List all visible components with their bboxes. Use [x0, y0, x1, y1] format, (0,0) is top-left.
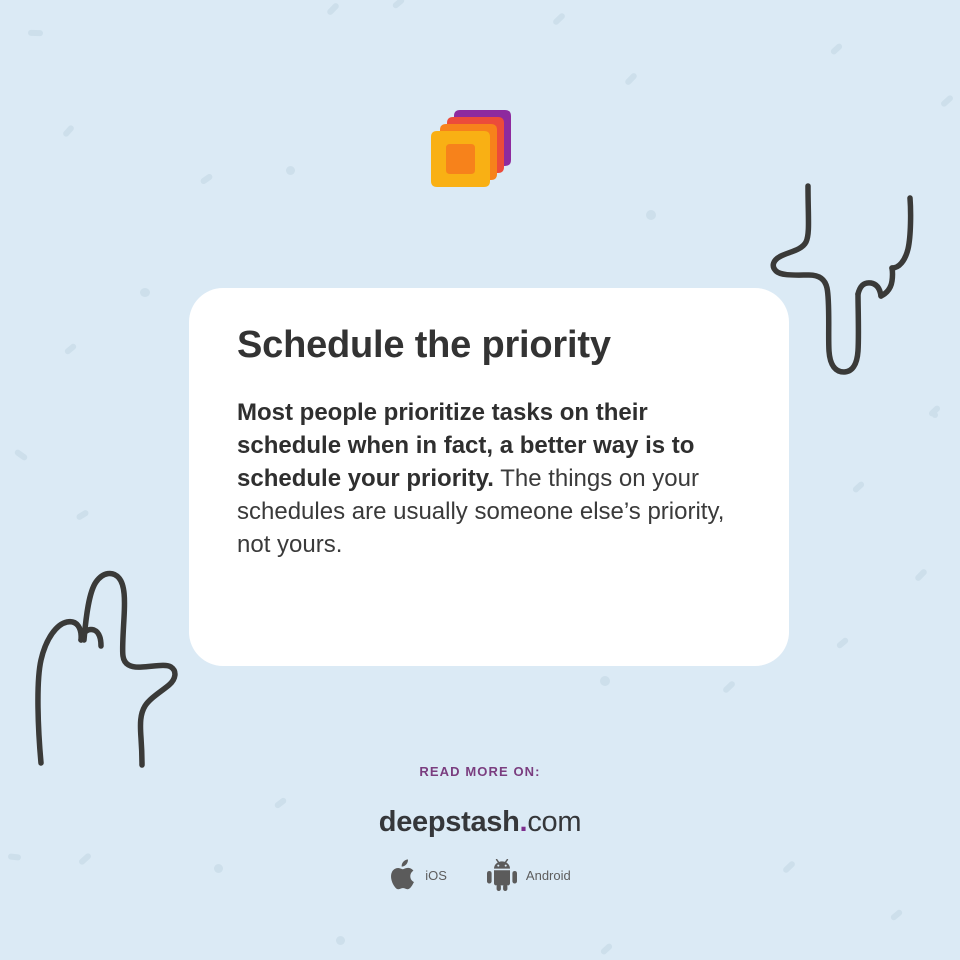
android-icon	[487, 859, 517, 891]
confetti-dash	[932, 412, 938, 418]
confetti-dash	[852, 480, 866, 493]
confetti-dash	[552, 12, 566, 26]
hand-pointing-up-illustration	[24, 560, 204, 775]
apple-icon	[389, 859, 416, 891]
confetti-dash	[890, 909, 904, 922]
confetti-dash	[392, 0, 406, 9]
brand-name: deepstash	[379, 806, 520, 838]
confetti-dash	[286, 166, 295, 175]
confetti-dash	[940, 94, 954, 108]
confetti-dash	[624, 72, 638, 86]
confetti-dash	[600, 676, 610, 686]
brand-tld: com	[527, 806, 581, 838]
android-store-link[interactable]: Android	[487, 859, 571, 891]
confetti-dash	[140, 288, 150, 297]
ios-store-link[interactable]: iOS	[389, 859, 447, 891]
confetti-dash	[600, 942, 614, 955]
confetti-dash	[75, 509, 89, 521]
deepstash-quote-card-page: Schedule the priority Most people priori…	[0, 0, 960, 960]
confetti-dash	[199, 173, 213, 185]
read-more-label: READ MORE ON:	[0, 764, 960, 779]
confetti-dash	[836, 637, 850, 650]
ios-label: iOS	[425, 868, 447, 883]
confetti-dash	[722, 680, 736, 694]
store-badges: iOS	[0, 859, 960, 891]
android-label: Android	[526, 868, 571, 883]
deepstash-logo	[429, 108, 515, 192]
brand-wordmark[interactable]: deepstash.com	[0, 806, 960, 839]
confetti-dash	[64, 343, 78, 356]
confetti-dash	[914, 568, 928, 582]
quote-card: Schedule the priority Most people priori…	[189, 288, 789, 666]
confetti-dash	[28, 30, 43, 37]
confetti-dash	[326, 2, 340, 16]
confetti-dash	[62, 124, 75, 138]
confetti-dash	[646, 210, 656, 220]
confetti-dash	[830, 42, 844, 55]
footer: READ MORE ON: deepstash.com iOS	[0, 764, 960, 891]
confetti-dash	[928, 404, 942, 417]
confetti-dash	[336, 936, 345, 945]
confetti-dash	[14, 448, 29, 461]
page-title: Schedule the priority	[237, 322, 741, 368]
quote-body: Most people prioritize tasks on their sc…	[237, 396, 741, 561]
